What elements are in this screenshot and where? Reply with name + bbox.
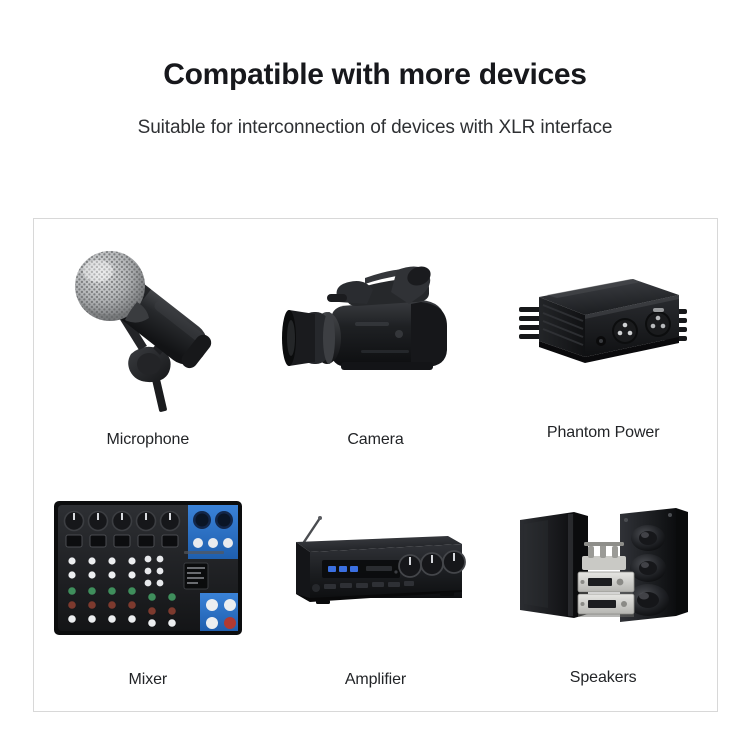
device-label: Phantom Power: [547, 424, 660, 458]
device-cell-phantom-power[interactable]: Phantom Power: [489, 219, 717, 465]
device-cell-mixer[interactable]: Mixer: [34, 465, 262, 711]
device-cell-speakers[interactable]: Speakers: [489, 465, 717, 711]
mixer-art: [34, 465, 262, 671]
page-subtitle: Suitable for interconnection of devices …: [0, 117, 750, 139]
microphone-icon: [53, 238, 243, 413]
device-cell-microphone[interactable]: Microphone: [34, 219, 262, 465]
speakers-art: [489, 465, 717, 671]
compatibility-page: Compatible with more devices Suitable fo…: [0, 0, 750, 750]
device-cell-camera[interactable]: Camera: [262, 219, 490, 465]
device-grid-card: Microphone: [33, 218, 718, 712]
device-label: Camera: [347, 431, 403, 465]
device-cell-amplifier[interactable]: AV: [262, 465, 490, 711]
device-row-1: Microphone: [34, 219, 717, 465]
amplifier-icon: AV: [276, 508, 476, 628]
device-label: Mixer: [129, 671, 168, 711]
device-label: Amplifier: [345, 671, 406, 711]
microphone-art: [34, 219, 262, 431]
phantom-power-icon: [513, 265, 693, 385]
header: Compatible with more devices Suitable fo…: [0, 0, 750, 139]
device-row-2: Mixer: [34, 465, 717, 711]
camcorder-icon: [281, 250, 471, 400]
audio-mixer-icon: [48, 493, 248, 643]
camera-art: [262, 219, 490, 431]
speakers-icon: [508, 498, 698, 638]
device-grid: Microphone: [34, 219, 717, 711]
device-label: Microphone: [107, 431, 190, 465]
phantom-power-art: [489, 219, 717, 431]
page-title: Compatible with more devices: [0, 58, 750, 91]
device-label: Speakers: [570, 669, 637, 709]
amplifier-art: AV: [262, 465, 490, 671]
